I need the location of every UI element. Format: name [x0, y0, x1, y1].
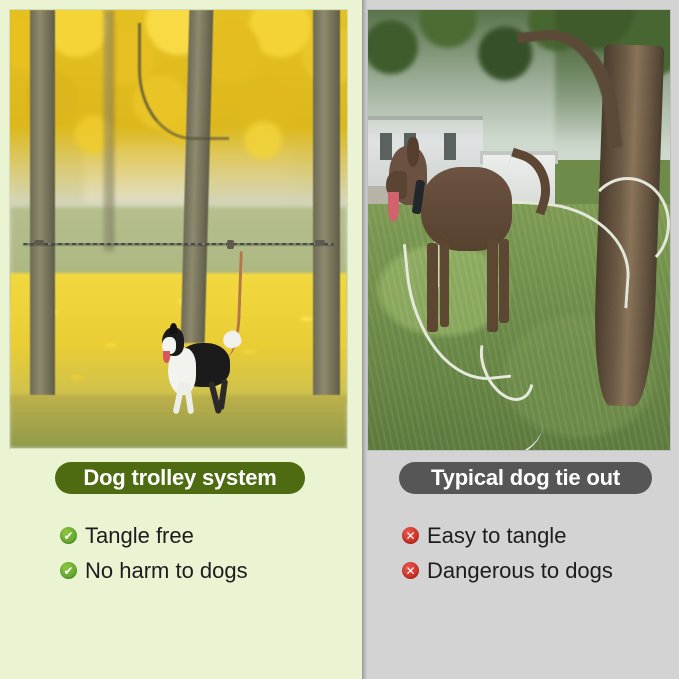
photo-dog-trolley-system	[10, 10, 347, 448]
feature-label: Easy to tangle	[427, 525, 566, 547]
trolley-cable	[23, 243, 333, 245]
dog-tongue	[388, 192, 399, 222]
feature-list-trolley: ✔ Tangle free ✔ No harm to dogs	[60, 518, 248, 588]
cable-anchor-left	[34, 240, 44, 245]
feature-item: ✕ Dangerous to dogs	[402, 553, 613, 588]
tree-trunk-far	[104, 10, 114, 251]
comparison-graphic: Dog trolley system ✔ Tangle free ✔ No ha…	[0, 0, 679, 679]
cable-anchor-right	[315, 240, 325, 245]
feature-item: ✔ Tangle free	[60, 518, 248, 553]
dog-tail	[221, 329, 243, 351]
tie-out-rope-segment-4	[585, 177, 670, 271]
check-circle-icon: ✔	[60, 562, 77, 579]
feature-label: Dangerous to dogs	[427, 560, 613, 582]
dog-ear	[170, 323, 177, 334]
dog-ear	[407, 137, 420, 167]
feature-label: Tangle free	[85, 525, 194, 547]
tie-out-rope-segment-5	[453, 397, 544, 450]
dog-tongue	[163, 351, 169, 363]
check-circle-icon: ✔	[60, 527, 77, 544]
scene-back-yard	[368, 10, 670, 450]
badge-typical-dog-tie-out: Typical dog tie out	[399, 462, 652, 494]
panel-dog-trolley-system: Dog trolley system ✔ Tangle free ✔ No ha…	[0, 0, 362, 679]
x-circle-icon: ✕	[402, 527, 419, 544]
photo-typical-dog-tie-out	[368, 10, 670, 450]
feature-item: ✕ Easy to tangle	[402, 518, 613, 553]
scene-autumn-ginkgo-park	[10, 10, 347, 448]
badge-dog-trolley-system: Dog trolley system	[55, 462, 305, 494]
tree-trunk-right	[313, 10, 340, 395]
panel-typical-dog-tie-out: Typical dog tie out ✕ Easy to tangle ✕ D…	[362, 0, 679, 679]
feature-item: ✔ No harm to dogs	[60, 553, 248, 588]
tree-trunk-left	[30, 10, 55, 395]
feature-label: No harm to dogs	[85, 560, 248, 582]
feature-list-tie-out: ✕ Easy to tangle ✕ Dangerous to dogs	[402, 518, 613, 588]
x-circle-icon: ✕	[402, 562, 419, 579]
panel-divider	[362, 0, 367, 679]
dog-border-collie	[162, 325, 243, 421]
trolley-runner	[227, 240, 234, 249]
